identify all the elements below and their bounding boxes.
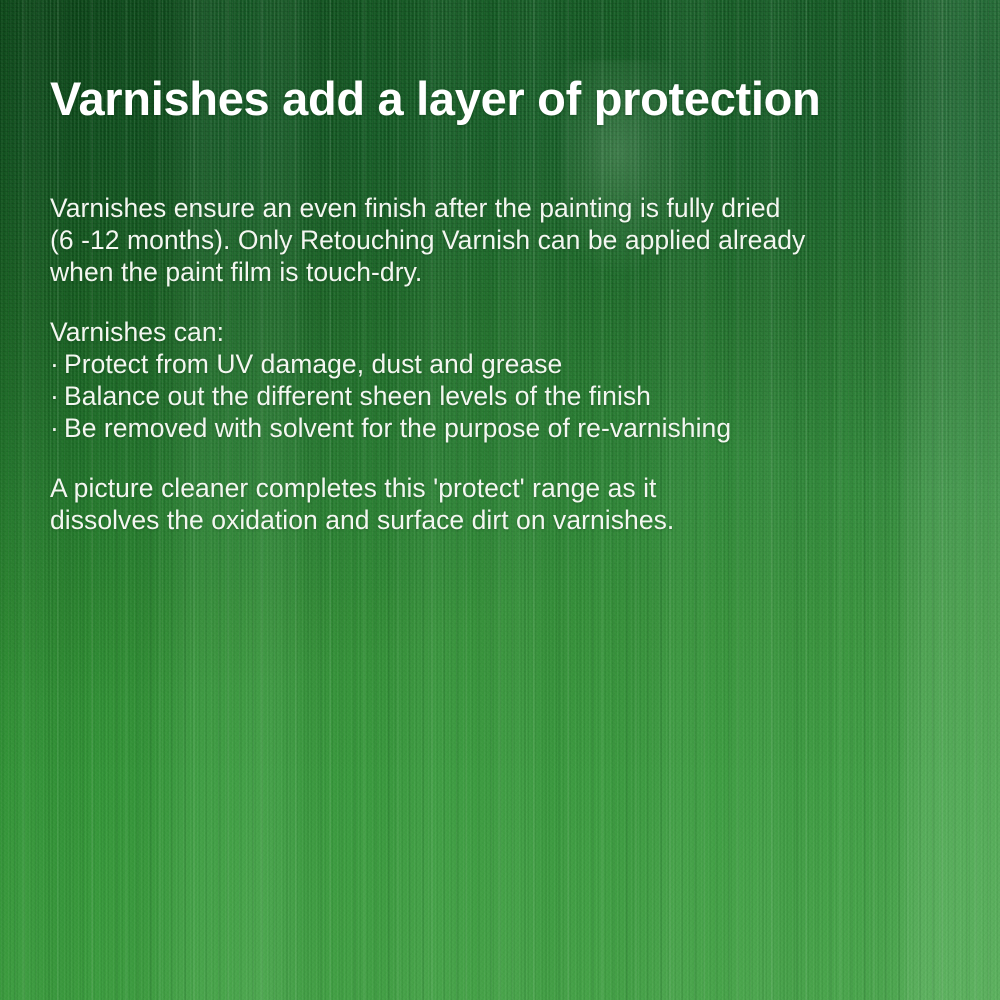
paragraph-intro: Varnishes ensure an even finish after th… [50, 192, 930, 288]
bullet-marker-icon: · [50, 412, 64, 444]
list-item-label: Balance out the different sheen levels o… [64, 381, 651, 411]
paragraph-intro-line-3: when the paint film is touch-dry. [50, 256, 930, 288]
paragraph-intro-line-1: Varnishes ensure an even finish after th… [50, 192, 930, 224]
poster-content: Varnishes add a layer of protection Varn… [0, 0, 1000, 1000]
bullet-marker-icon: · [50, 380, 64, 412]
paragraph-cleaner: A picture cleaner completes this 'protec… [50, 472, 930, 536]
bullet-marker-icon: · [50, 348, 64, 380]
list-item: ·Balance out the different sheen levels … [50, 380, 930, 412]
paragraph-gap-1 [50, 288, 930, 316]
body-text: Varnishes ensure an even finish after th… [50, 192, 930, 536]
capabilities-heading: Varnishes can: [50, 316, 930, 348]
list-item-label: Protect from UV damage, dust and grease [64, 349, 562, 379]
paragraph-cleaner-line-2: dissolves the oxidation and surface dirt… [50, 504, 930, 536]
paragraph-cleaner-line-1: A picture cleaner completes this 'protec… [50, 472, 930, 504]
paragraph-gap-2 [50, 444, 930, 472]
page-title: Varnishes add a layer of protection [50, 73, 820, 125]
list-item: ·Be removed with solvent for the purpose… [50, 412, 930, 444]
list-item: ·Protect from UV damage, dust and grease [50, 348, 930, 380]
list-item-label: Be removed with solvent for the purpose … [64, 413, 731, 443]
paragraph-intro-line-2: (6 -12 months). Only Retouching Varnish … [50, 224, 930, 256]
poster-canvas: Varnishes add a layer of protection Varn… [0, 0, 1000, 1000]
capabilities-list: Varnishes can: ·Protect from UV damage, … [50, 316, 930, 444]
